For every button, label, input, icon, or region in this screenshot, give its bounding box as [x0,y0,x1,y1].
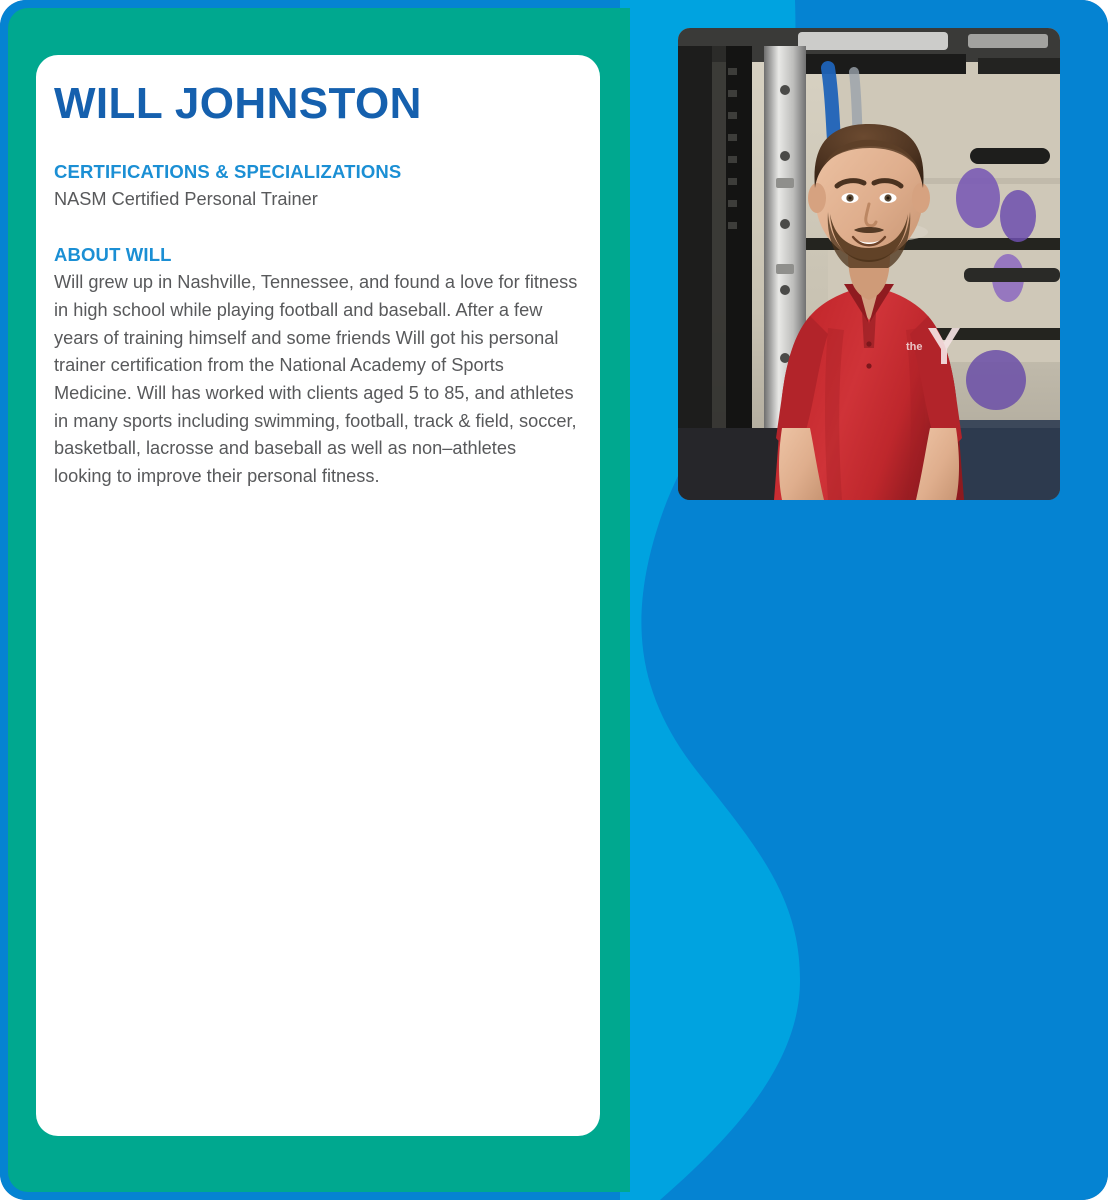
certifications-heading: CERTIFICATIONS & SPECIALIZATIONS [54,161,582,183]
about-section: ABOUT WILL Will grew up in Nashville, Te… [54,244,582,490]
page-title: WILL JOHNSTON [54,81,582,127]
svg-text:the: the [906,341,923,353]
trainer-bio-poster: WILL JOHNSTON CERTIFICATIONS & SPECIALIZ… [0,0,1108,1200]
certifications-section: CERTIFICATIONS & SPECIALIZATIONS NASM Ce… [54,161,582,214]
trainer-photo-illustration: the [678,28,1060,500]
about-heading: ABOUT WILL [54,244,582,266]
trainer-photo: Portrait of Will Johnston in a red YMCA … [678,28,1060,500]
about-body: Will grew up in Nashville, Tennessee, an… [54,269,578,490]
bio-card: WILL JOHNSTON CERTIFICATIONS & SPECIALIZ… [36,55,600,1136]
certifications-body: NASM Certified Personal Trainer [54,186,578,214]
